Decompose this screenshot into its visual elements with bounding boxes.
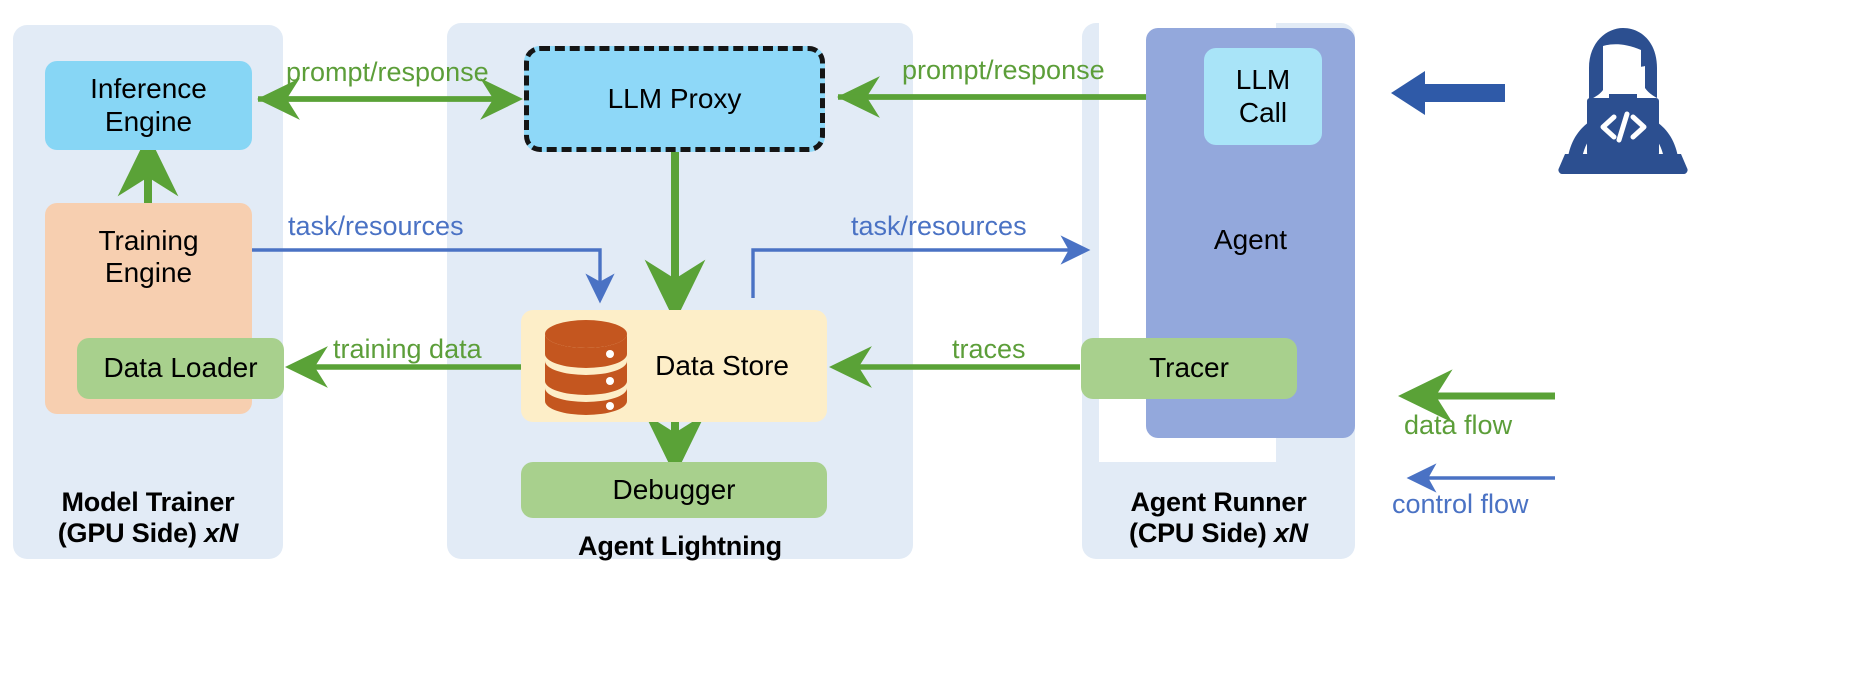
edge-label-prompt-response-right: prompt/response <box>902 55 1105 86</box>
legend-label-data-flow: data flow <box>1404 410 1512 441</box>
inference-engine-label-line2: Engine <box>105 106 192 138</box>
agent-lightning-line1: Agent Lightning <box>447 531 913 562</box>
diagram-canvas: Inference Engine Training Engine Data Lo… <box>0 0 1852 684</box>
panel-model-trainer-label: Model Trainer (GPU Side) xN <box>13 487 283 549</box>
data-loader-label: Data Loader <box>103 352 257 384</box>
panel-agent-runner-label: Agent Runner (CPU Side) xN <box>1082 487 1355 549</box>
edge-label-traces: traces <box>952 334 1026 365</box>
inference-engine-label-line1: Inference <box>90 73 207 105</box>
block-llm-call[interactable]: LLM Call <box>1204 48 1322 145</box>
panel-agent-lightning-label: Agent Lightning <box>447 531 913 562</box>
agent-runner-line2: (CPU Side) <box>1129 518 1274 548</box>
model-trainer-xn: xN <box>204 518 238 548</box>
developer-arrow <box>1391 71 1505 115</box>
block-llm-proxy[interactable]: LLM Proxy <box>524 46 825 152</box>
agent-runner-xn: xN <box>1274 518 1308 548</box>
tracer-label: Tracer <box>1149 352 1229 384</box>
agent-label: Agent <box>1214 224 1287 256</box>
training-engine-label-line2: Engine <box>105 257 192 289</box>
edge-label-prompt-response-left: prompt/response <box>286 57 489 88</box>
llm-call-label-line2: Call <box>1239 97 1287 129</box>
database-icon <box>536 318 636 416</box>
legend-label-control-flow: control flow <box>1392 489 1529 520</box>
debugger-label: Debugger <box>613 474 736 506</box>
edge-label-task-resources-left: task/resources <box>288 211 464 242</box>
model-trainer-line1: Model Trainer <box>13 487 283 518</box>
edge-label-training-data: training data <box>333 334 482 365</box>
llm-call-label-line1: LLM <box>1236 64 1290 96</box>
llm-proxy-label: LLM Proxy <box>608 83 742 115</box>
agent-runner-line1: Agent Runner <box>1082 487 1355 518</box>
block-tracer[interactable]: Tracer <box>1081 338 1297 399</box>
block-debugger[interactable]: Debugger <box>521 462 827 518</box>
block-inference-engine[interactable]: Inference Engine <box>45 61 252 150</box>
model-trainer-line2: (GPU Side) <box>58 518 204 548</box>
data-store-label: Data Store <box>655 350 789 382</box>
training-engine-label-line1: Training <box>98 225 198 257</box>
edge-label-task-resources-right: task/resources <box>851 211 1027 242</box>
block-data-loader[interactable]: Data Loader <box>77 338 284 399</box>
developer-user-icon <box>1545 24 1693 174</box>
